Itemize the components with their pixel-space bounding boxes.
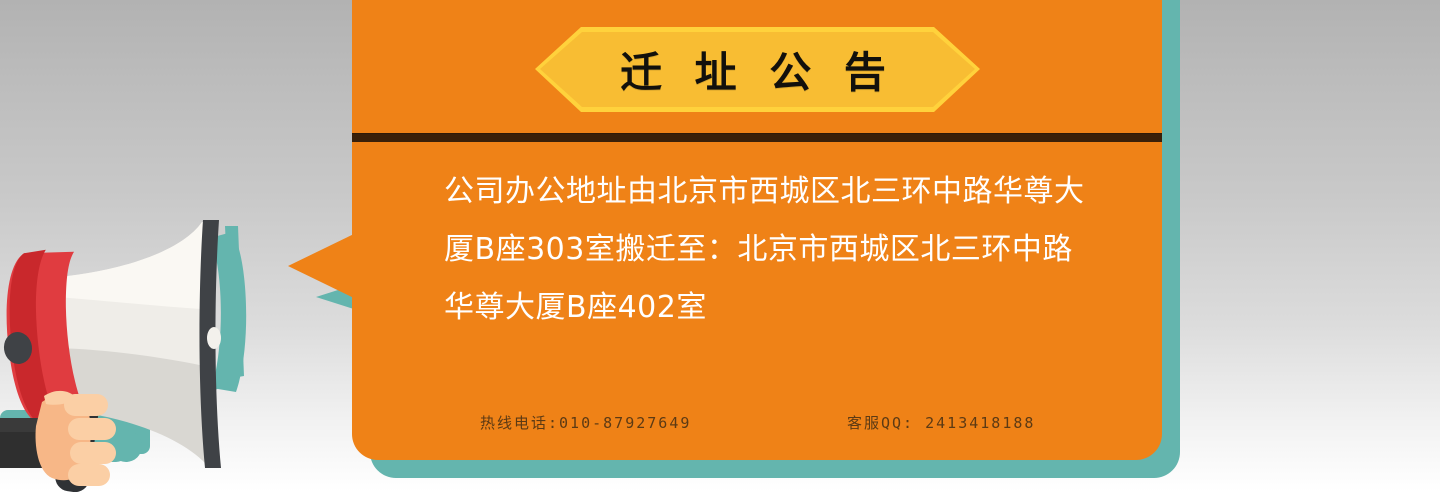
divider xyxy=(352,133,1162,142)
hotline-phone: 热线电话:010-87927649 xyxy=(480,412,691,433)
page-title: 迁 址 公 告 xyxy=(535,27,980,112)
megaphone-announcement-icon xyxy=(0,196,300,492)
megaphone-highlight xyxy=(207,327,221,349)
speech-tail xyxy=(288,232,358,300)
hand xyxy=(36,391,116,486)
banner-canvas: 迁 址 公 告 公司办公地址由北京市西城区北三环中路华尊大厦B座303室搬迁至：… xyxy=(0,0,1440,492)
support-qq: 客服QQ: 2413418188 xyxy=(847,412,1035,433)
footer-contacts: 热线电话:010-87927649 客服QQ: 2413418188 xyxy=(352,408,1162,438)
announcement-body: 公司办公地址由北京市西城区北三环中路华尊大厦B座303室搬迁至：北京市西城区北三… xyxy=(444,163,1096,337)
title-ribbon: 迁 址 公 告 xyxy=(535,27,980,112)
